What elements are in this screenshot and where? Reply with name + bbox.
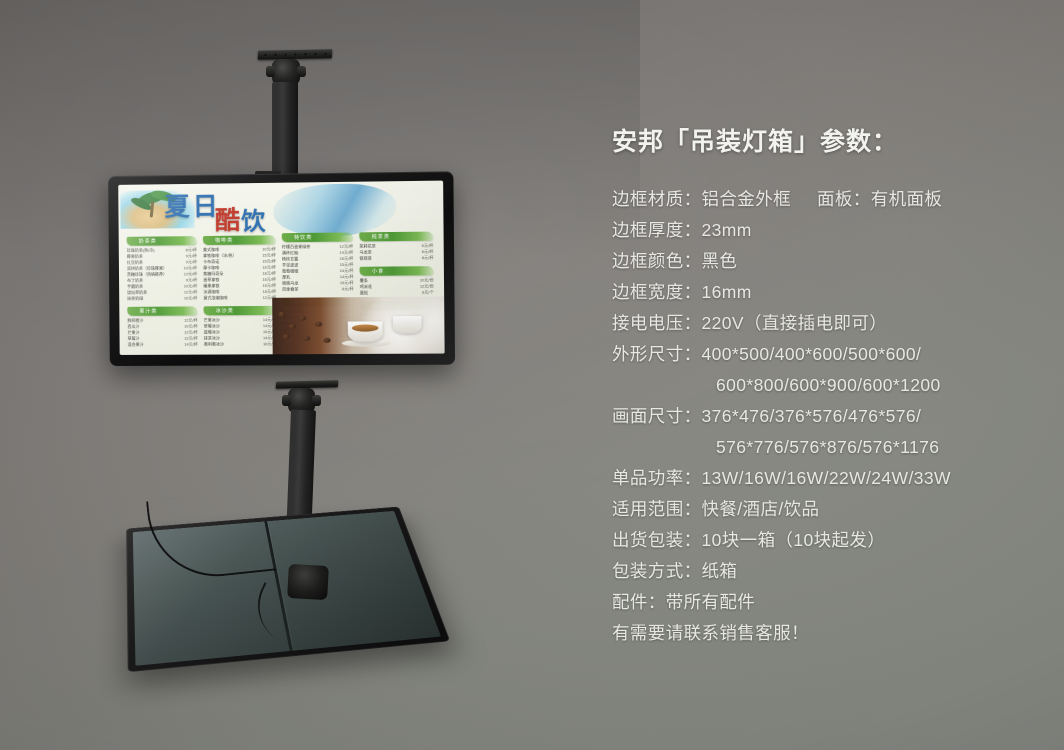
menu-column-col-2: 咖啡类美式咖啡10元/杯拿铁咖啡（冰/热）15元/杯卡布奇诺15元/杯摩卡咖啡1…	[203, 235, 277, 352]
menu-section-title: 特饮类	[294, 234, 312, 241]
menu-item-price: 8元/杯	[338, 286, 354, 292]
menu-section-title: 冰沙类	[216, 307, 234, 314]
menu-item-name: 蛋挞	[360, 290, 368, 296]
spec-line-picture-size-cont: 576*776/576*876/576*1176	[612, 432, 1042, 463]
spec-label: 外形尺寸：	[612, 344, 702, 364]
menu-item-name: 混合果汁	[128, 342, 144, 348]
spec-value: 400*500/400*600/500*600/	[702, 344, 922, 364]
spec-label: 画面尺寸：	[612, 406, 702, 426]
light-box-menu-board: 夏 日 酷 饮 奶茶类珍珠奶茶(热/冷)8元/杯椰果奶茶9元/杯红豆奶茶9元/杯…	[108, 171, 455, 366]
menu-item-price: 10元/杯	[180, 295, 198, 301]
headline-char-3: 酷	[215, 207, 240, 232]
menu-item-name: 奥利奥冰沙	[204, 341, 224, 347]
menu-section-header: 果汁类	[127, 306, 197, 315]
spec-value: 16mm	[702, 282, 752, 302]
spec-value: 带所有配件	[666, 592, 756, 612]
spec-line-outer-size: 外形尺寸：400*500/400*600/500*600/	[612, 339, 1042, 370]
spec-extra-label: 面板：	[817, 189, 871, 209]
menu-section-header: 冰沙类	[204, 306, 277, 316]
panel-mount-bracket	[287, 564, 329, 600]
coffee-photo	[272, 297, 444, 355]
spec-value: 23mm	[702, 220, 752, 240]
spec-line-frame-width: 边框宽度：16mm	[612, 277, 1042, 308]
menu-section-title: 咖啡类	[215, 237, 233, 244]
spec-line-outer-size-cont: 600*800/600*900/600*1200	[612, 370, 1042, 401]
menu-face: 夏 日 酷 饮 奶茶类珍珠奶茶(热/冷)8元/杯椰果奶茶9元/杯红豆奶茶9元/杯…	[118, 181, 444, 355]
menu-section-header: 小食	[360, 266, 434, 276]
menu-item-price: 6元/个	[418, 290, 434, 296]
aluminium-frame: 夏 日 酷 饮 奶茶类珍珠奶茶(热/冷)8元/杯椰果奶茶9元/杯红豆奶茶9元/杯…	[108, 171, 455, 366]
menu-section-title: 果汁类	[139, 308, 157, 315]
spec-value: 纸箱	[702, 561, 738, 581]
menu-item-price: 14元/杯	[180, 342, 198, 348]
menu-section-header: 纯茶类	[359, 232, 433, 242]
spec-label: 单品功率：	[612, 468, 702, 488]
spec-line-packing-method: 包装方式：纸箱	[612, 556, 1042, 587]
menu-column-col-1: 奶茶类珍珠奶茶(热/冷)8元/杯椰果奶茶9元/杯红豆奶茶9元/杯双拼奶茶（珍珠椰…	[127, 236, 198, 353]
spec-label: 包装方式：	[612, 561, 702, 581]
spec-label: 出货包装：	[612, 530, 702, 550]
spec-value: 铝合金外框	[702, 189, 792, 209]
spec-line-power: 单品功率：13W/16W/16W/22W/24W/33W	[612, 463, 1042, 494]
spec-value: 黑色	[702, 251, 738, 271]
spec-label: 边框宽度：	[612, 282, 702, 302]
menu-section-header: 特饮类	[282, 232, 353, 242]
spec-label: 边框材质：	[612, 189, 702, 209]
spec-label: 边框颜色：	[612, 251, 702, 271]
headline-char-4: 饮	[241, 209, 266, 233]
spec-value: 576*776/576*876/576*1176	[716, 437, 939, 457]
ceiling-mount-plate	[258, 49, 333, 60]
spec-label: 适用范围：	[612, 499, 702, 519]
spec-title: 安邦「吊装灯箱」参数：	[612, 122, 1042, 158]
menu-section-header: 奶茶类	[127, 236, 197, 246]
spec-line-list: 边框材质：铝合金外框面板：有机面板边框厚度：23mm边框颜色：黑色边框宽度：16…	[612, 184, 1042, 649]
spec-line-contact: 有需要请联系销售客服！	[612, 618, 1042, 649]
section-spacer	[128, 348, 198, 353]
spec-line-frame-color: 边框颜色：黑色	[612, 246, 1042, 277]
menu-section-header: 咖啡类	[203, 235, 276, 245]
menu-section-title: 奶茶类	[139, 237, 157, 244]
menu-item-name: 意式浓缩咖啡	[203, 295, 227, 301]
spec-value: 600*800/600*900/600*1200	[716, 375, 941, 395]
spec-label: 配件：	[612, 592, 666, 612]
headline-char-1: 夏	[164, 194, 189, 219]
spec-extra-value: 有机面板	[871, 189, 943, 209]
spec-value: 376*476/376*576/476*576/	[702, 406, 922, 426]
section-spacer	[204, 347, 277, 352]
spec-line-voltage: 接电电压：220V（直接插电即可）	[612, 308, 1042, 339]
spec-label: 接电电压：	[612, 313, 702, 333]
spec-line-application: 适用范围：快餐/酒店/饮品	[612, 494, 1042, 525]
menu-item-price: 8元/杯	[418, 255, 434, 261]
menu-section-title: 纯茶类	[372, 233, 391, 240]
spec-value: 10块一箱（10块起发）	[702, 530, 886, 550]
menu-section-title: 小食	[372, 268, 384, 275]
spec-value: 有需要请联系销售客服！	[612, 623, 809, 643]
spec-value: 快餐/酒店/饮品	[702, 499, 820, 519]
product-photo-stage: 夏 日 酷 饮 奶茶类珍珠奶茶(热/冷)8元/杯椰果奶茶9元/杯红豆奶茶9元/杯…	[0, 0, 1064, 750]
menu-item-name: 铁观音	[359, 256, 371, 262]
spec-label: 边框厚度：	[612, 220, 702, 240]
spec-value: 13W/16W/16W/22W/24W/33W	[702, 468, 951, 488]
spec-line-shipping-package: 出货包装：10块一箱（10块起发）	[612, 525, 1042, 556]
spec-line-accessories: 配件：带所有配件	[612, 587, 1042, 618]
spec-value: 220V（直接插电即可）	[702, 313, 888, 333]
spec-line-frame-thickness: 边框厚度：23mm	[612, 215, 1042, 246]
specification-panel: 安邦「吊装灯箱」参数： 边框材质：铝合金外框面板：有机面板边框厚度：23mm边框…	[612, 122, 1042, 649]
spec-line-frame-material: 边框材质：铝合金外框面板：有机面板	[612, 184, 1042, 215]
spec-line-picture-size: 画面尺寸：376*476/376*576/476*576/	[612, 401, 1042, 432]
menu-item-name: 四季春茶	[282, 287, 298, 293]
menu-item-name: 抹茶奶绿	[127, 296, 143, 302]
